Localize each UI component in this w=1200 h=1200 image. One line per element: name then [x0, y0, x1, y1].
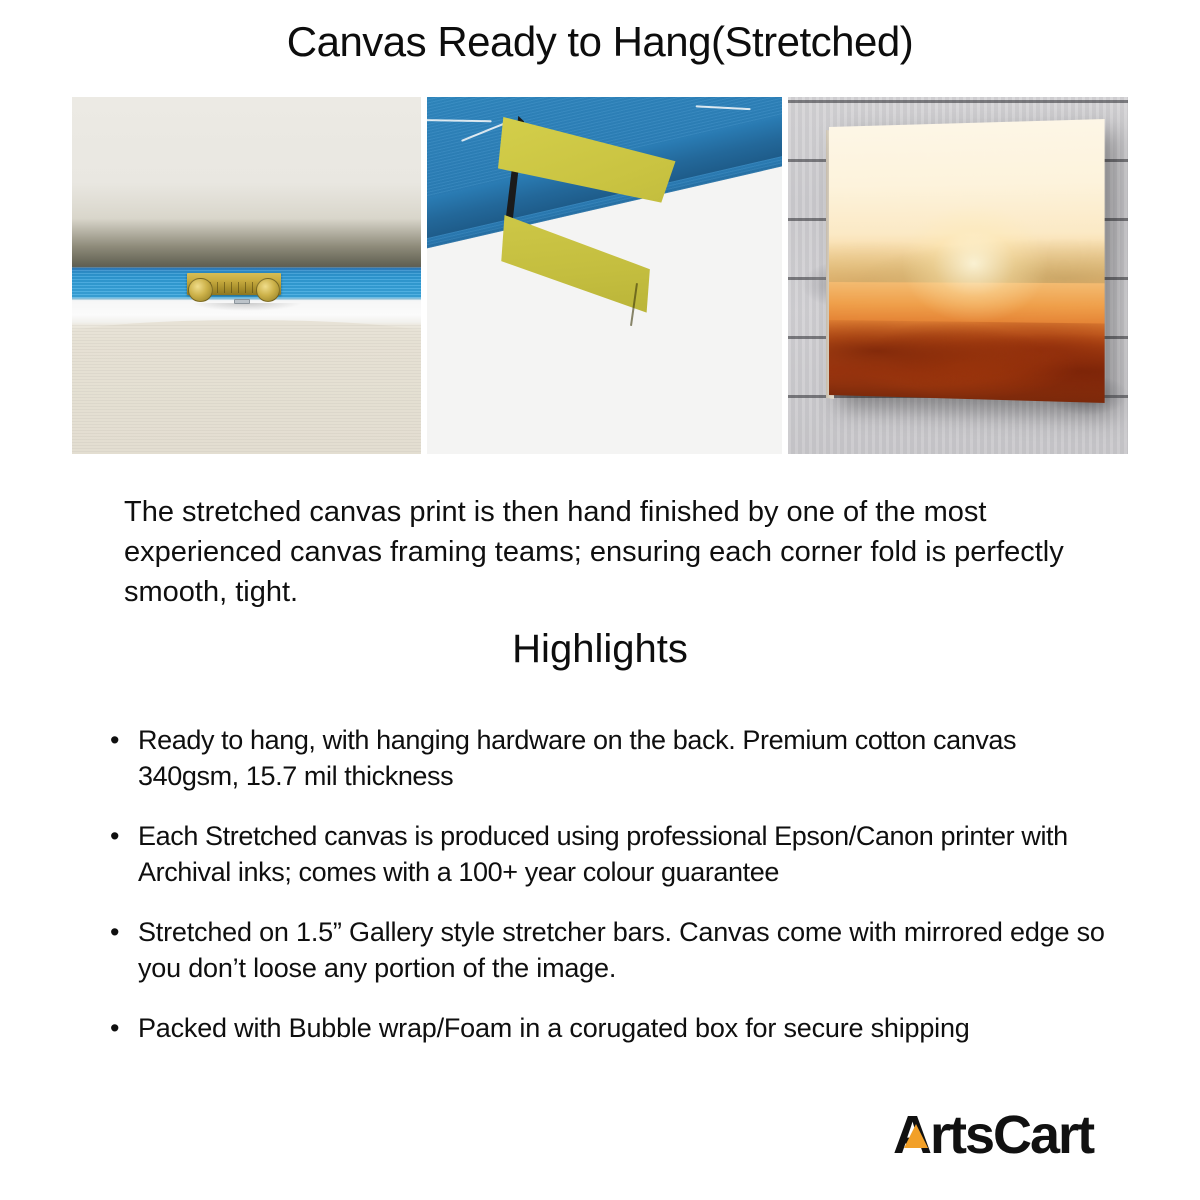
sawtooth-hanger-icon — [187, 273, 281, 295]
list-item-text: Stretched on 1.5” Gallery style stretche… — [138, 917, 1105, 983]
photo-canvas-back-sawtooth-hanger — [72, 97, 421, 454]
list-item-text: Ready to hang, with hanging hardware on … — [138, 725, 1016, 791]
bullet-marker-icon: • — [110, 914, 119, 950]
hanger-tab — [234, 299, 250, 304]
sunset-landscape-canvas — [829, 119, 1105, 403]
bullet-marker-icon: • — [110, 722, 119, 758]
hanger-shadow — [191, 303, 303, 312]
page-title: Canvas Ready to Hang(Stretched) — [0, 18, 1200, 66]
list-item: • Packed with Bubble wrap/Foam in a coru… — [104, 1010, 1114, 1046]
bullet-marker-icon: • — [110, 818, 119, 854]
brand-logo: ArtsCart — [893, 1104, 1143, 1166]
wisp-5 — [696, 106, 751, 111]
screw-left-icon — [188, 278, 212, 302]
list-item-text: Each Stretched canvas is produced using … — [138, 821, 1068, 887]
highlights-heading: Highlights — [0, 627, 1200, 672]
canvas-weave-texture — [72, 325, 421, 454]
bullet-marker-icon: • — [110, 1010, 119, 1046]
product-info-page: Canvas Ready to Hang(Stretched) — [0, 0, 1200, 1200]
wisp-1 — [427, 119, 492, 122]
list-item: • Stretched on 1.5” Gallery style stretc… — [104, 914, 1114, 986]
intro-paragraph: The stretched canvas print is then hand … — [124, 492, 1074, 612]
wisp-2 — [461, 121, 508, 142]
highlights-list: • Ready to hang, with hanging hardware o… — [104, 722, 1114, 1070]
list-item-text: Packed with Bubble wrap/Foam in a coruga… — [138, 1013, 970, 1043]
photo-canvas-print-on-wood-wall — [788, 97, 1128, 454]
product-photo-strip — [72, 97, 1128, 454]
photo-canvas-corner-fold — [427, 97, 782, 454]
foreground-foliage — [829, 320, 1105, 403]
triangle-icon — [904, 1124, 928, 1148]
list-item: • Each Stretched canvas is produced usin… — [104, 818, 1114, 890]
sun-glow — [903, 205, 1047, 323]
list-item: • Ready to hang, with hanging hardware o… — [104, 722, 1114, 794]
